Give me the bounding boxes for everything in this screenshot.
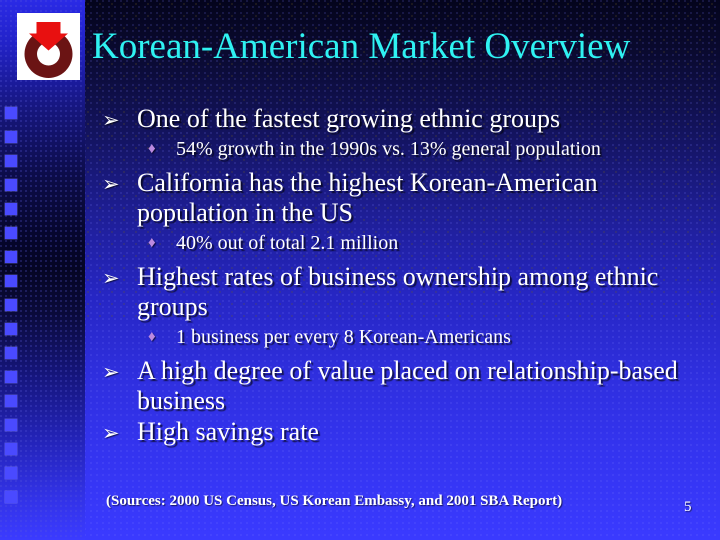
bullet-text: High savings rate: [137, 417, 319, 446]
bullet-text: 54% growth in the 1990s vs. 13% general …: [176, 138, 601, 160]
bullet-item-level-1: ➢California has the highest Korean-Ameri…: [100, 168, 700, 228]
arrow-bullet-icon: ➢: [102, 263, 120, 293]
arrow-bullet-icon: ➢: [102, 169, 120, 199]
bullet-text: Highest rates of business ownership amon…: [137, 262, 658, 321]
sidebar-dot-texture: [0, 0, 85, 540]
sidebar-square: [5, 227, 17, 239]
sidebar-square: [5, 467, 17, 479]
sidebar-square: [5, 491, 17, 503]
sidebar-square: [5, 443, 17, 455]
sidebar-square: [5, 131, 17, 143]
bullet-item-level-2: ♦54% growth in the 1990s vs. 13% general…: [100, 135, 700, 164]
sidebar-square: [5, 347, 17, 359]
korean-market-logo: [17, 13, 80, 80]
arrow-bullet-icon: ➢: [102, 357, 120, 387]
sidebar-square: [5, 251, 17, 263]
diamond-bullet-icon: ♦: [148, 323, 156, 352]
bullet-text: 1 business per every 8 Korean-Americans: [176, 326, 511, 348]
arrow-bullet-icon: ➢: [102, 105, 120, 135]
diamond-bullet-icon: ♦: [148, 229, 156, 258]
bullet-text: One of the fastest growing ethnic groups: [137, 104, 560, 133]
arrow-bullet-icon: ➢: [102, 418, 120, 448]
sidebar-square: [5, 323, 17, 335]
page-number: 5: [684, 498, 692, 516]
sidebar-square: [5, 203, 17, 215]
sidebar-square: [5, 395, 17, 407]
slide-title: Korean-American Market Overview: [92, 25, 707, 69]
sidebar-square: [5, 299, 17, 311]
sidebar-square: [5, 371, 17, 383]
bullet-text: A high degree of value placed on relatio…: [137, 356, 678, 415]
slide-body-bullet-list: ➢One of the fastest growing ethnic group…: [100, 104, 700, 448]
left-decorative-band: [0, 0, 85, 540]
diamond-bullet-icon: ♦: [148, 135, 156, 164]
bullet-item-level-1: ➢A high degree of value placed on relati…: [100, 356, 700, 416]
bullet-text: 40% out of total 2.1 million: [176, 232, 398, 254]
bullet-item-level-1: ➢One of the fastest growing ethnic group…: [100, 104, 700, 134]
sidebar-square: [5, 275, 17, 287]
bullet-item-level-2: ♦40% out of total 2.1 million: [100, 229, 700, 258]
bullet-text: California has the highest Korean-Americ…: [137, 168, 598, 227]
source-note: (Sources: 2000 US Census, US Korean Emba…: [106, 492, 562, 510]
bullet-item-level-1: ➢High savings rate: [100, 417, 700, 447]
sidebar-square: [5, 419, 17, 431]
sidebar-square: [5, 179, 17, 191]
bullet-item-level-2: ♦1 business per every 8 Korean-Americans: [100, 323, 700, 352]
sidebar-square: [5, 107, 17, 119]
bullet-item-level-1: ➢Highest rates of business ownership amo…: [100, 262, 700, 322]
sidebar-square: [5, 155, 17, 167]
presentation-slide: Korean-American Market Overview ➢One of …: [0, 0, 720, 540]
